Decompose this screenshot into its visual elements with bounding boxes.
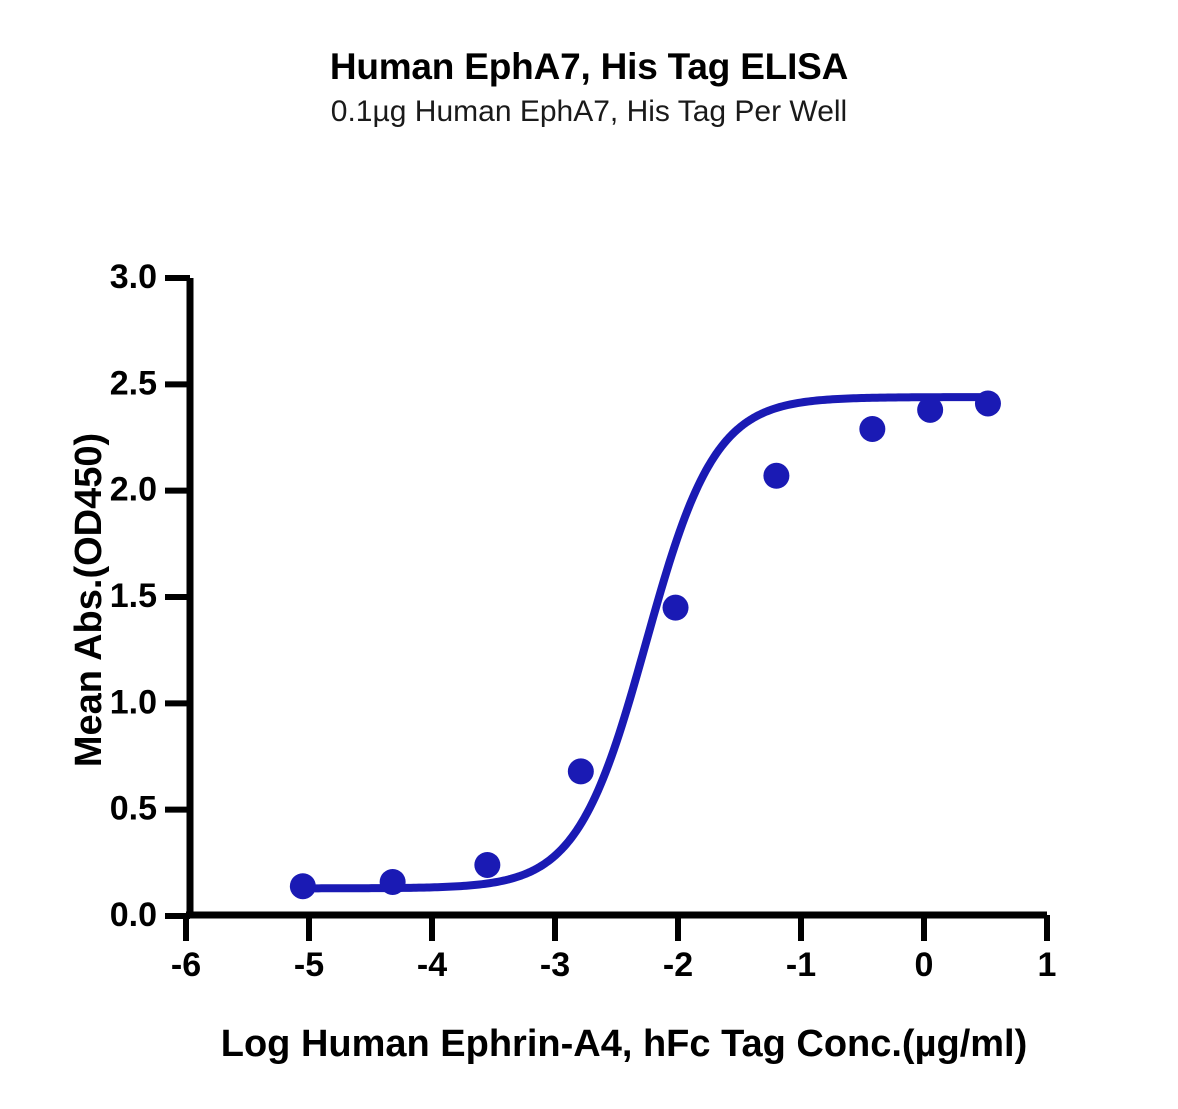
y-tick-label: 2.5 xyxy=(110,364,157,402)
y-tick-label: 1.5 xyxy=(110,577,157,615)
x-tick-label: -2 xyxy=(663,946,693,984)
x-tick-label: 0 xyxy=(915,946,934,984)
sigmoid-fit-curve xyxy=(303,397,988,888)
x-axis-ticks: -6-5-4-3-2-101 xyxy=(171,915,1057,984)
y-tick-label: 2.0 xyxy=(110,471,157,509)
x-tick-label: -1 xyxy=(786,946,816,984)
y-tick-label: 0.5 xyxy=(110,790,157,828)
y-tick-label: 3.0 xyxy=(110,258,157,296)
x-tick-label: -6 xyxy=(171,946,201,984)
x-tick-label: -3 xyxy=(540,946,570,984)
x-tick-label: -5 xyxy=(294,946,324,984)
data-point xyxy=(917,397,943,423)
y-tick-label: 0.0 xyxy=(110,896,157,934)
x-tick-label: -4 xyxy=(417,946,447,984)
y-axis-title: Mean Abs.(OD450) xyxy=(68,433,110,767)
x-tick-label: 1 xyxy=(1038,946,1057,984)
data-point xyxy=(663,595,689,621)
elisa-chart-figure: Human EphA7, His Tag ELISA 0.1µg Human E… xyxy=(0,0,1178,1109)
data-point xyxy=(859,416,885,442)
data-point xyxy=(568,758,594,784)
data-point xyxy=(975,390,1001,416)
data-point xyxy=(380,869,406,895)
plot-area: 0.00.51.01.52.02.53.0 -6-5-4-3-2-101 Mea… xyxy=(0,0,1178,1109)
data-point xyxy=(474,852,500,878)
y-tick-label: 1.0 xyxy=(110,683,157,721)
y-axis-ticks: 0.00.51.01.52.02.53.0 xyxy=(110,258,190,934)
data-point xyxy=(290,873,316,899)
data-point xyxy=(763,463,789,489)
x-axis-title: Log Human Ephrin-A4, hFc Tag Conc.(µg/ml… xyxy=(221,1023,1028,1065)
